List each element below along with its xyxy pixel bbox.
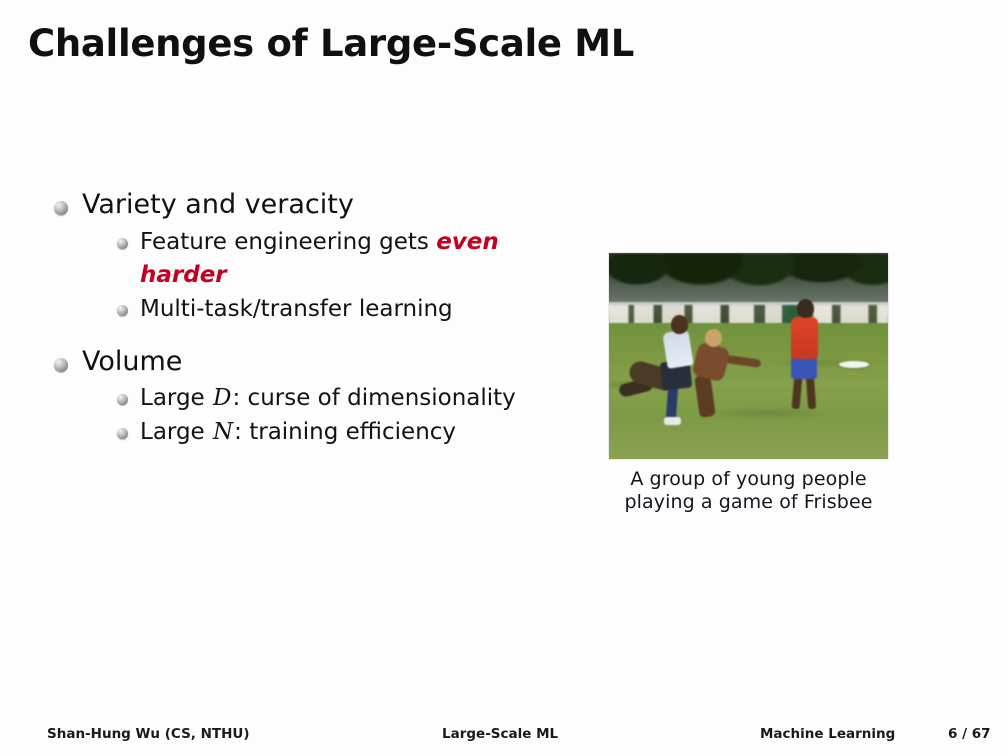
photo-player-white-shoe bbox=[664, 417, 681, 425]
figure-caption-line2: playing a game of Frisbee bbox=[609, 491, 888, 514]
photo-frisbee-players bbox=[609, 253, 888, 459]
photo-player-red-torso bbox=[791, 317, 818, 359]
list-item: Large D: curse of dimensionality bbox=[112, 382, 568, 415]
bullet-list-level1: Variety and veracity Feature engineering… bbox=[48, 188, 568, 450]
figure-caption: A group of young people playing a game o… bbox=[609, 468, 888, 514]
list-item: Variety and veracity Feature engineering… bbox=[48, 188, 568, 327]
bullet-sphere-icon bbox=[117, 238, 128, 249]
list-item: Feature engineering gets even harder bbox=[112, 226, 568, 293]
bullet-content: Variety and veracity Feature engineering… bbox=[48, 188, 568, 452]
sub-bullet-prefix: Large bbox=[140, 385, 212, 411]
figure-caption-line1: A group of young people bbox=[609, 468, 888, 491]
bullet-sphere-icon bbox=[54, 201, 68, 215]
figure-frisbee: A group of young people playing a game o… bbox=[609, 253, 888, 514]
photo-player-tan-head bbox=[705, 329, 722, 347]
footer-author: Shan-Hung Wu (CS, NTHU) bbox=[47, 726, 250, 742]
sub-bullet-text: Large D: curse of dimensionality bbox=[140, 385, 516, 411]
math-symbol-d: D bbox=[212, 385, 232, 411]
sub-bullet-text: Multi-task/transfer learning bbox=[140, 296, 453, 322]
footer-course: Machine Learning bbox=[760, 726, 895, 742]
bullet-sphere-icon bbox=[117, 394, 128, 405]
page-title: Challenges of Large-Scale ML bbox=[28, 22, 634, 65]
photo-treeline bbox=[609, 253, 888, 302]
bullet-label: Variety and veracity bbox=[82, 189, 354, 220]
bullet-sphere-icon bbox=[54, 358, 68, 372]
sub-bullet-text: Feature engineering gets even harder bbox=[140, 229, 499, 288]
photo-player-red-head bbox=[797, 299, 814, 318]
list-item: Multi-task/transfer learning bbox=[112, 293, 568, 326]
sub-bullet-suffix: : training efficiency bbox=[234, 419, 456, 445]
bullet-sphere-icon bbox=[117, 305, 128, 316]
bullet-sphere-icon bbox=[117, 428, 128, 439]
math-symbol-n: N bbox=[212, 419, 234, 445]
photo-grass-field bbox=[609, 323, 888, 459]
bullet-list-level2: Feature engineering gets even harder Mul… bbox=[112, 226, 568, 327]
photo-player-white-torso bbox=[662, 329, 693, 369]
bullet-list-level2: Large D: curse of dimensionality Large N… bbox=[112, 382, 568, 450]
list-item: Large N: training efficiency bbox=[112, 416, 568, 449]
slide-footer: Shan-Hung Wu (CS, NTHU) Large-Scale ML M… bbox=[0, 726, 1008, 748]
sub-bullet-prefix: Large bbox=[140, 419, 212, 445]
bullet-label: Volume bbox=[82, 346, 182, 377]
slide: Challenges of Large-Scale ML Variety and… bbox=[0, 0, 1008, 756]
footer-section: Large-Scale ML bbox=[442, 726, 558, 742]
sub-bullet-text: Large N: training efficiency bbox=[140, 419, 456, 445]
sub-bullet-suffix: : curse of dimensionality bbox=[232, 385, 515, 411]
list-item: Volume Large D: curse of dimensionality … bbox=[48, 345, 568, 450]
photo-frisbee-disc bbox=[839, 361, 869, 368]
sub-bullet-prefix: Feature engineering gets bbox=[140, 229, 436, 255]
footer-page-number: 6 / 67 bbox=[948, 726, 991, 742]
